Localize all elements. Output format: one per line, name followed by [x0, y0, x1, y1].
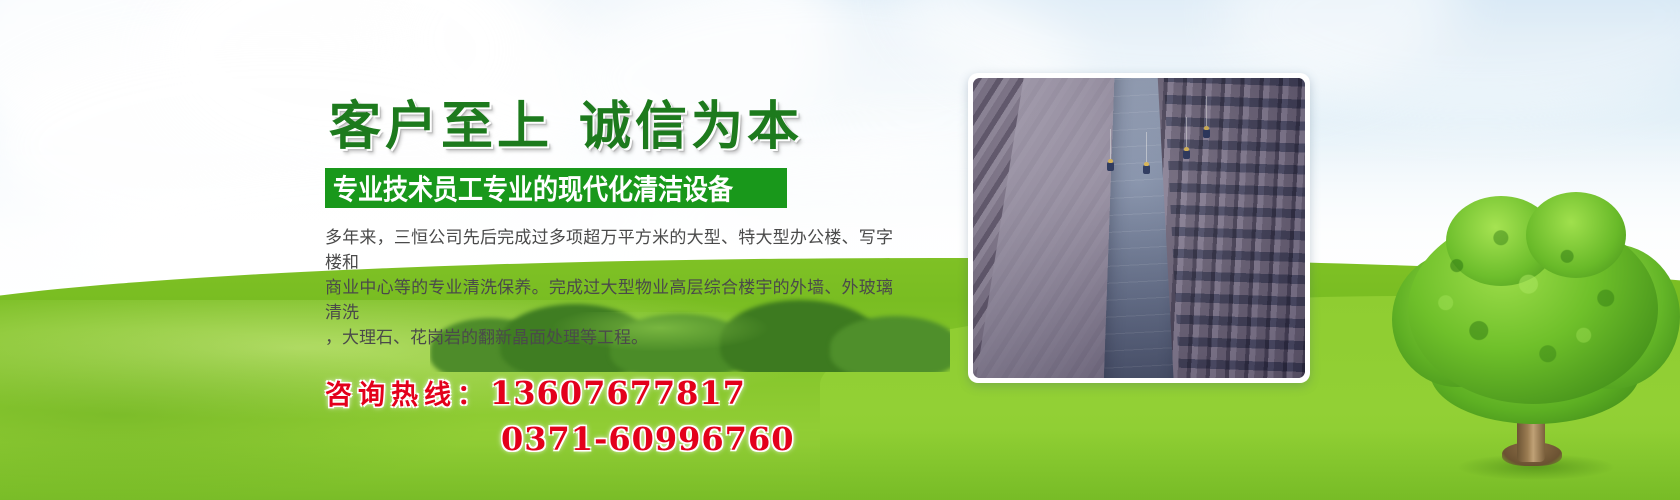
hotline-mobile-number[interactable]: 13607677817	[490, 374, 746, 412]
banner-headline: 客户至上诚信为本	[325, 96, 905, 158]
description-line-2: 商业中心等的专业清洗保养。完成过大型物业高层综合楼宇的外墙、外玻璃清洗	[325, 276, 893, 326]
banner-subtitle-text: 专业技术员工专业的现代化清洁设备	[325, 168, 733, 208]
description-line-3: ，大理石、花岗岩的翻新晶面处理等工程。	[325, 326, 893, 351]
headline-part-2: 诚信为本	[579, 96, 803, 157]
promo-banner: 客户至上诚信为本 专业技术员工专业的现代化清洁设备 多年来，三恒公司先后完成过多…	[0, 0, 1680, 500]
hotline-block: 咨询热线：13607677817 0371-60996760	[325, 373, 905, 458]
hotline-landline-number[interactable]: 0371-60996760	[325, 420, 905, 458]
headline-part-1: 客户至上	[329, 96, 553, 157]
hotline-primary-row: 咨询热线：13607677817	[325, 373, 905, 412]
description-line-1: 多年来，三恒公司先后完成过多项超万平方米的大型、特大型办公楼、写字楼和	[325, 226, 893, 276]
banner-subtitle-band: 专业技术员工专业的现代化清洁设备	[325, 168, 787, 208]
building-photo-frame[interactable]	[968, 73, 1310, 383]
banner-text-column: 客户至上诚信为本 专业技术员工专业的现代化清洁设备 多年来，三恒公司先后完成过多…	[325, 96, 905, 458]
building-photo	[973, 78, 1305, 378]
tree-graphic	[1386, 188, 1680, 478]
banner-description: 多年来，三恒公司先后完成过多项超万平方米的大型、特大型办公楼、写字楼和 商业中心…	[325, 226, 893, 351]
tree-leaf-texture	[1396, 196, 1672, 428]
hotline-label: 咨询热线：	[325, 380, 490, 411]
photo-vignette	[973, 78, 1305, 378]
